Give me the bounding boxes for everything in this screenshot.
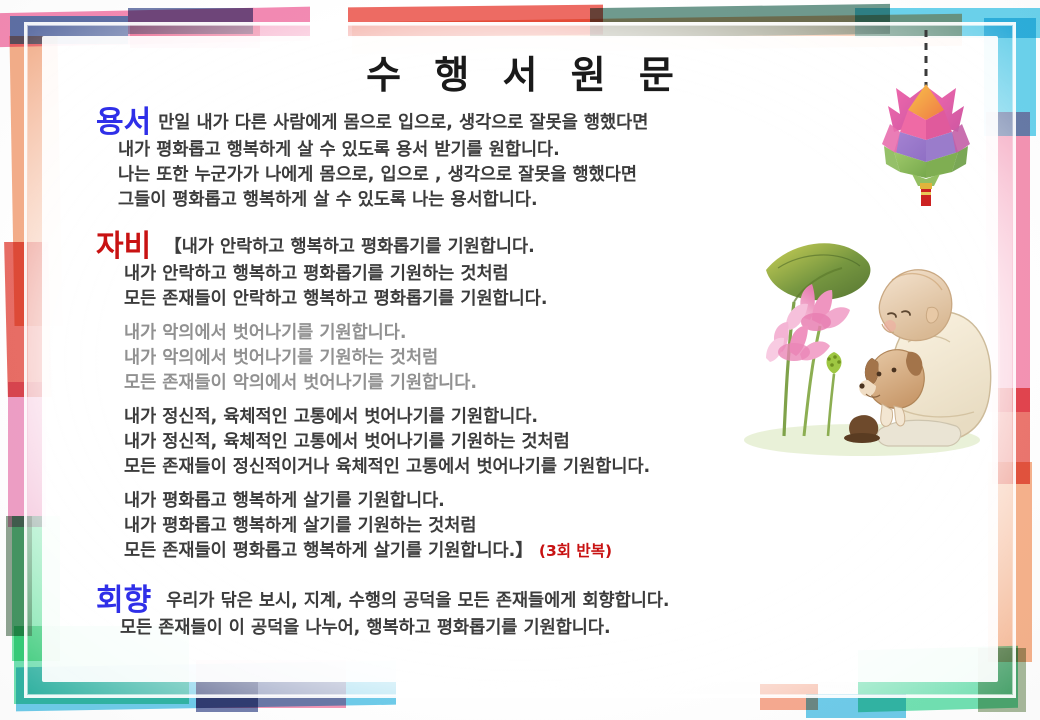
section-yongseo-first-row: 용서 만일 내가 다른 사람에게 몸으로 입으로, 생각으로 잘못을 행했다면: [96, 108, 648, 138]
section-yongseo-label: 용서: [96, 108, 151, 138]
section-jabi-stanza-0-line-0: 내가 안락하고 행복하고 평화롭기를 기원합니다.: [182, 237, 535, 257]
bracket-open-icon: 【: [164, 237, 182, 257]
section-jabi-stanza-1: 내가 악의에서 벗어나기를 기원합니다. 내가 악의에서 벗어나기를 기원하는 …: [124, 321, 650, 396]
section-yongseo-line-3: 그들이 평화롭고 행복하게 살 수 있도록 나는 용서합니다.: [118, 188, 648, 213]
section-jabi-stanza-1-line-1: 내가 악의에서 벗어나기를 기원하는 것처럼: [124, 346, 650, 371]
section-jabi-stanza-2: 내가 정신적, 육체적인 고통에서 벗어나기를 기원합니다. 내가 정신적, 육…: [124, 405, 650, 480]
section-jabi-line-0: 【내가 안락하고 행복하고 평화롭기를 기원합니다.: [164, 235, 535, 262]
section-yongseo-line-1: 내가 평화롭고 행복하게 살 수 있도록 용서 받기를 원합니다.: [118, 138, 648, 163]
bracket-close-icon: 】: [515, 541, 533, 561]
section-hoehyang-line-1: 모든 존재들이 이 공덕을 나누어, 행복하고 평화롭기를 기원합니다.: [120, 616, 670, 641]
section-hoehyang-line-0: 우리가 닦은 보시, 지계, 수행의 공덕을 모든 존재들에게 회향합니다.: [166, 589, 669, 616]
section-jabi-label: 자비: [96, 232, 151, 262]
section-yongseo-line-2: 나는 또한 누군가가 나에게 몸으로, 입으로 , 생각으로 잘못을 행했다면: [118, 163, 648, 188]
section-jabi-stanza-1-line-2: 모든 존재들이 악의에서 벗어나기를 기원합니다.: [124, 371, 650, 396]
repeat-note: (3회 반복): [539, 542, 612, 560]
section-jabi: 자비 【내가 안락하고 행복하고 평화롭기를 기원합니다. 내가 안락하고 행복…: [96, 232, 650, 564]
section-jabi-stanza-2-line-2: 모든 존재들이 정신적이거나 육체적인 고통에서 벗어나기를 기원합니다.: [124, 455, 650, 480]
section-yongseo: 용서 만일 내가 다른 사람에게 몸으로 입으로, 생각으로 잘못을 행했다면 …: [96, 108, 648, 213]
section-jabi-stanza-3-line-0: 내가 평화롭고 행복하게 살기를 기원합니다.: [124, 489, 650, 514]
section-jabi-stanza-0-line-2: 모든 존재들이 안락하고 행복하고 평화롭기를 기원합니다.: [124, 287, 650, 312]
section-jabi-stanza-2-line-1: 내가 정신적, 육체적인 고통에서 벗어나기를 기원하는 것처럼: [124, 430, 650, 455]
section-jabi-first-row: 자비 【내가 안락하고 행복하고 평화롭기를 기원합니다.: [96, 232, 650, 262]
section-jabi-stanza-3-line-2: 모든 존재들이 평화롭고 행복하게 살기를 기원합니다.】 (3회 반복): [124, 539, 650, 564]
section-jabi-stanza-0-line-1: 내가 안락하고 행복하고 평화롭기를 기원하는 것처럼: [124, 262, 650, 287]
section-jabi-stanza-2-line-0: 내가 정신적, 육체적인 고통에서 벗어나기를 기원합니다.: [124, 405, 650, 430]
section-hoehyang: 회향 우리가 닦은 보시, 지계, 수행의 공덕을 모든 존재들에게 회향합니다…: [96, 586, 670, 641]
page-title: 수 행 서 원 문: [0, 44, 1040, 99]
section-yongseo-line-0: 만일 내가 다른 사람에게 몸으로 입으로, 생각으로 잘못을 행했다면: [158, 111, 648, 138]
poster-page: 수 행 서 원 문 용서 만일 내가 다른 사람에게 몸으로 입으로, 생각으로…: [0, 0, 1040, 720]
section-yongseo-body: 내가 평화롭고 행복하게 살 수 있도록 용서 받기를 원합니다. 나는 또한 …: [118, 138, 648, 213]
section-jabi-stanza-3-line-1: 내가 평화롭고 행복하게 살기를 기원하는 것처럼: [124, 514, 650, 539]
section-jabi-stanza-1-line-0: 내가 악의에서 벗어나기를 기원합니다.: [124, 321, 650, 346]
section-jabi-body: 내가 안락하고 행복하고 평화롭기를 기원하는 것처럼 모든 존재들이 안락하고…: [124, 262, 650, 564]
section-jabi-stanza-3-line-2-text: 모든 존재들이 평화롭고 행복하게 살기를 기원합니다.: [124, 541, 515, 561]
section-hoehyang-body: 모든 존재들이 이 공덕을 나누어, 행복하고 평화롭기를 기원합니다.: [120, 616, 670, 641]
document-text-layer: 수 행 서 원 문 용서 만일 내가 다른 사람에게 몸으로 입으로, 생각으로…: [0, 0, 1040, 720]
section-hoehyang-label: 회향: [96, 586, 151, 616]
section-jabi-stanza-3: 내가 평화롭고 행복하게 살기를 기원합니다. 내가 평화롭고 행복하게 살기를…: [124, 489, 650, 564]
section-hoehyang-first-row: 회향 우리가 닦은 보시, 지계, 수행의 공덕을 모든 존재들에게 회향합니다…: [96, 586, 670, 616]
